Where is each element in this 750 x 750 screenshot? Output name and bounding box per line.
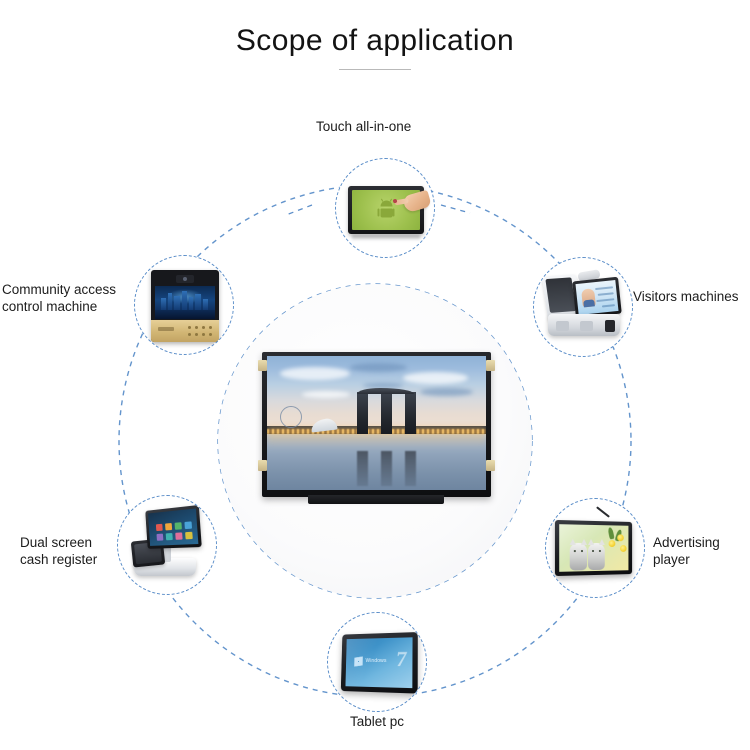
brand-mark bbox=[158, 327, 174, 331]
app-tile bbox=[175, 532, 182, 539]
leaf bbox=[607, 527, 614, 540]
antenna-icon bbox=[596, 506, 610, 517]
node-dual-screen-cash-register[interactable] bbox=[117, 495, 217, 595]
keypad-key bbox=[188, 333, 191, 336]
label-touch-all-in-one: Touch all-in-one bbox=[316, 118, 411, 135]
app-tile bbox=[165, 523, 172, 530]
app-tile bbox=[185, 532, 193, 540]
app-tile bbox=[157, 534, 164, 541]
form-line bbox=[598, 292, 614, 296]
label-visitors-machines: Visitors machines bbox=[633, 288, 739, 305]
access-panel-body bbox=[151, 270, 219, 342]
kitten-eye bbox=[581, 550, 583, 552]
building bbox=[203, 299, 208, 311]
panel-mount-tab bbox=[258, 360, 267, 371]
advertising-player-art bbox=[546, 499, 644, 597]
cash-register-art bbox=[118, 496, 216, 594]
keypad-key bbox=[188, 326, 191, 329]
advertising-display-bezel bbox=[555, 520, 632, 576]
tablet-pc-art: Windows 7 bbox=[328, 613, 426, 711]
lcd-screen-marina-bay-sands bbox=[267, 356, 486, 490]
panel-mount-tab bbox=[486, 460, 495, 471]
tower-reflection bbox=[357, 451, 368, 486]
android-body bbox=[380, 208, 392, 217]
kitten bbox=[588, 543, 605, 570]
cloud bbox=[302, 391, 350, 398]
kitten-eye bbox=[599, 550, 601, 552]
node-visitors-machines[interactable] bbox=[533, 257, 633, 357]
keypad-key bbox=[209, 326, 212, 329]
access-keypad bbox=[151, 320, 219, 342]
building bbox=[168, 293, 172, 310]
label-dual-screen-cash-register: Dual screen cash register bbox=[20, 534, 97, 568]
label-tablet-pc: Tablet pc bbox=[350, 713, 404, 730]
building bbox=[182, 291, 187, 310]
form-line bbox=[595, 286, 613, 290]
form-line bbox=[602, 304, 615, 307]
app-tile bbox=[184, 521, 192, 529]
node-touch-all-in-one[interactable] bbox=[335, 158, 435, 258]
keypad-key bbox=[202, 333, 205, 336]
app-tile bbox=[175, 522, 182, 530]
android-arm bbox=[393, 208, 395, 216]
lcd-display-panel bbox=[262, 352, 491, 497]
spur-dash-top-right bbox=[441, 205, 470, 213]
scope-of-application-diagram: Touch all-in-one Visitors machines bbox=[0, 0, 750, 750]
kitten-eye bbox=[574, 550, 576, 552]
panel-mount-tab bbox=[258, 460, 267, 471]
flower bbox=[609, 540, 616, 547]
kiosk-primary-screen bbox=[572, 277, 622, 319]
app-tile bbox=[166, 533, 173, 540]
mbs-tower bbox=[405, 392, 416, 434]
app-tile bbox=[156, 524, 163, 531]
tablet-screen-windows7: Windows 7 bbox=[345, 637, 412, 688]
camera-icon bbox=[176, 275, 194, 283]
building bbox=[195, 294, 201, 311]
tower-reflection bbox=[405, 451, 416, 486]
form-line bbox=[596, 298, 614, 302]
flower bbox=[620, 545, 627, 552]
node-tablet-pc[interactable]: Windows 7 bbox=[327, 612, 427, 712]
windows-version-number: 7 bbox=[394, 648, 407, 670]
kiosk-screen-content bbox=[575, 280, 618, 315]
android-arm bbox=[377, 208, 379, 216]
access-panel-screen-city bbox=[155, 286, 215, 319]
panel-mount-tab bbox=[486, 360, 495, 371]
node-advertising-player[interactable] bbox=[545, 498, 645, 598]
building bbox=[161, 298, 166, 311]
building bbox=[174, 296, 180, 311]
kiosk-vent bbox=[556, 321, 569, 331]
kitten-eye bbox=[592, 550, 594, 552]
device-reflection bbox=[352, 235, 420, 241]
tower-reflection bbox=[381, 451, 392, 486]
touch-all-in-one-art bbox=[336, 159, 434, 257]
tablet-bezel: Windows 7 bbox=[341, 632, 418, 694]
panel-connector-foot bbox=[308, 495, 444, 504]
flower bbox=[617, 534, 624, 541]
android-head bbox=[380, 201, 392, 207]
kitten bbox=[570, 543, 587, 571]
visitor-photo bbox=[581, 288, 596, 307]
kiosk-card-reader bbox=[605, 320, 615, 332]
city-lights-strip bbox=[267, 429, 486, 434]
advertising-screen-kittens bbox=[559, 524, 628, 572]
keypad-key bbox=[209, 333, 212, 336]
label-advertising-player: Advertising player bbox=[653, 534, 720, 568]
mbs-tower bbox=[357, 392, 368, 434]
visitors-machine-art bbox=[534, 258, 632, 356]
pos-screen-content bbox=[148, 508, 198, 545]
android-robot-icon bbox=[378, 201, 395, 220]
lcd-bezel bbox=[262, 352, 491, 497]
keypad-key bbox=[202, 326, 205, 329]
label-community-access-control-machine: Community access control machine bbox=[2, 281, 116, 315]
node-community-access-control-machine[interactable] bbox=[134, 255, 234, 355]
mbs-tower bbox=[381, 392, 392, 434]
cloud bbox=[350, 363, 407, 372]
access-control-art bbox=[135, 256, 233, 354]
harbour-water bbox=[155, 310, 215, 319]
kiosk-base bbox=[548, 314, 620, 336]
spur-dash-top-left bbox=[286, 205, 312, 215]
building bbox=[189, 297, 193, 310]
keypad-key bbox=[195, 333, 198, 336]
pos-main-screen bbox=[145, 505, 202, 549]
keypad-key bbox=[195, 326, 198, 329]
cloud bbox=[280, 367, 350, 380]
kiosk-vent bbox=[580, 321, 593, 331]
